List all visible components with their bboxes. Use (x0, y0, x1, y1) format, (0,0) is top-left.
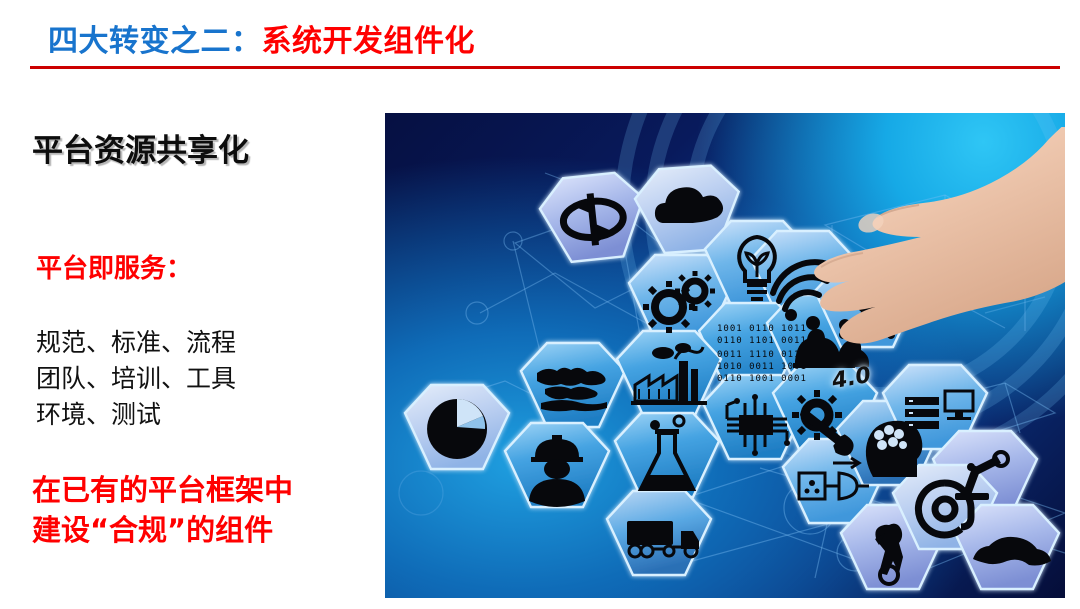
body-list-item: 规范、标准、流程 (36, 325, 236, 361)
left-text-column: 平台资源共享化 平台即服务： 规范、标准、流程 团队、培训、工具 环境、测试 在… (32, 113, 377, 598)
title-red-part: 系统开发组件化 (262, 24, 476, 59)
body-list-item: 团队、培训、工具 (36, 361, 236, 397)
slide-root: 四大转变之二：系统开发组件化 平台资源共享化 平台即服务： 规范、标准、流程 团… (0, 0, 1080, 609)
pie-chart-icon (427, 399, 487, 459)
body-list: 规范、标准、流程 团队、培训、工具 环境、测试 (36, 325, 236, 433)
brain-head-icon (866, 421, 922, 477)
title-blue-part: 四大转变之二： (48, 24, 262, 59)
body-list-item: 环境、测试 (36, 397, 236, 433)
conclusion-text: 在已有的平台框架中 建设“合规”的组件 (32, 470, 293, 550)
page-title: 四大转变之二：系统开发组件化 (48, 16, 475, 60)
conclusion-line: 建设“合规”的组件 (32, 510, 293, 550)
title-underline-rule (30, 66, 1060, 69)
hexagon-grid: 1001 0110 1011 0110 1101 0011 0011 1110 … (385, 113, 1065, 598)
sub-heading: 平台即服务： (36, 248, 192, 285)
lead-heading: 平台资源共享化 (32, 125, 249, 170)
hand-pointing (743, 127, 1065, 427)
illustration-image: 1001 0110 1011 0110 1101 0011 0011 1110 … (385, 113, 1065, 598)
conclusion-line: 在已有的平台框架中 (32, 470, 293, 510)
